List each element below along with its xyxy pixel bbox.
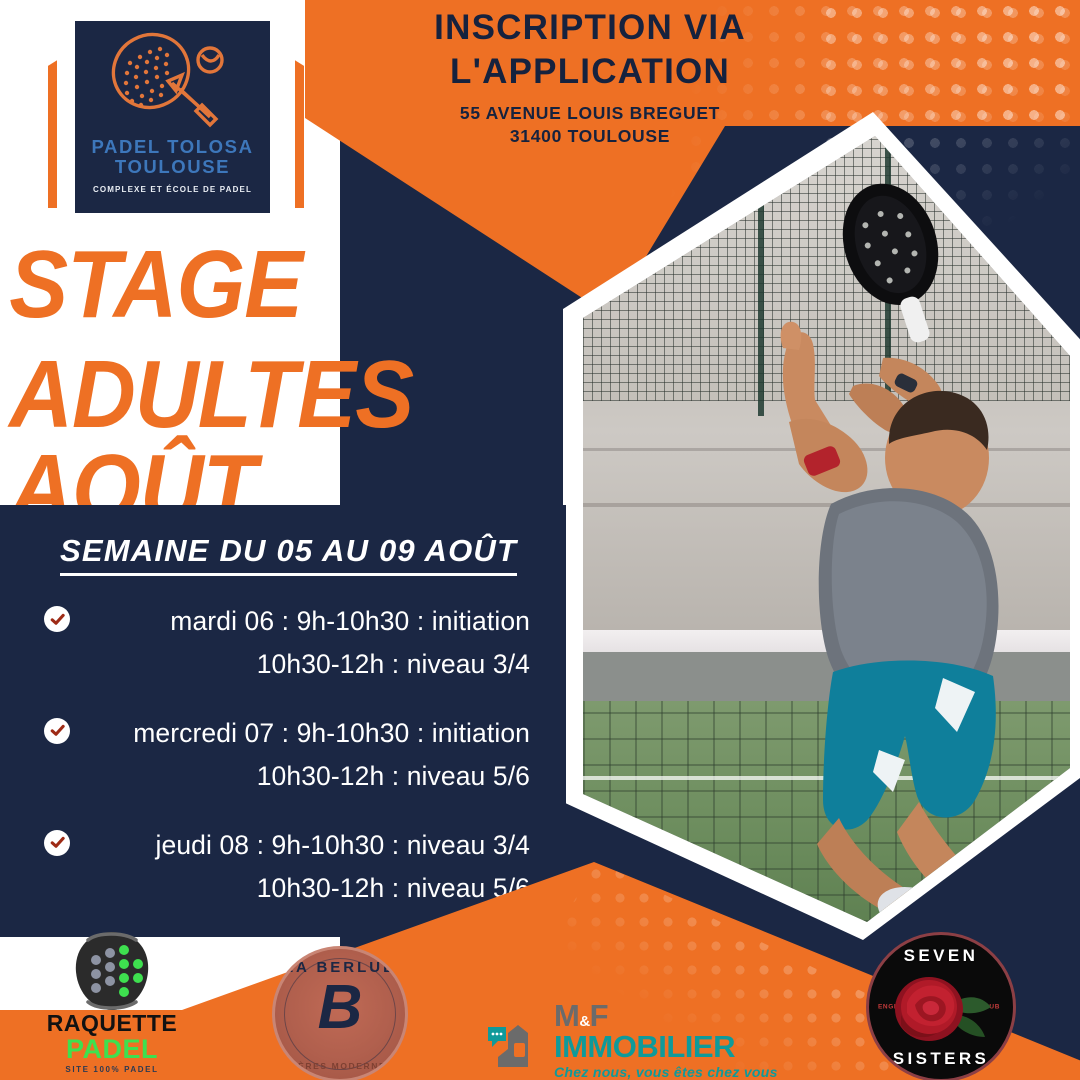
schedule-list: mardi 06 : 9h-10h30 : initiation 10h30-1… xyxy=(0,600,566,936)
header-line1: INSCRIPTION VIA xyxy=(355,6,825,50)
house-speech-bubble-icon xyxy=(484,1025,546,1069)
check-circle-icon xyxy=(44,718,70,744)
title-line1: STAGE xyxy=(0,238,552,332)
mf-tagline: Chez nous, vous êtes chez vous ! xyxy=(554,1065,784,1080)
raquette-line1: RAQUETTE xyxy=(32,1012,192,1035)
padel-tolosa-logo[interactable]: PADEL TOLOSA TOULOUSE COMPLEXE ET ÉCOLE … xyxy=(75,21,270,213)
padel-racket-dots-icon xyxy=(66,928,158,1014)
seven-bottom-text: SISTERS xyxy=(869,1049,1013,1069)
header-text-block: INSCRIPTION VIA L'APPLICATION 55 AVENUE … xyxy=(355,6,825,149)
check-circle-icon xyxy=(44,830,70,856)
schedule-item: jeudi 08 : 9h-10h30 : niveau 3/4 10h30-1… xyxy=(0,824,566,910)
raquette-line2: PADEL xyxy=(32,1035,192,1063)
sponsor-la-berlue[interactable]: LA BERLUE B BIÈRES MODERNES xyxy=(272,946,406,1080)
schedule-item-line1: jeudi 08 : 9h-10h30 : niveau 3/4 xyxy=(0,824,566,867)
padel-racket-and-ball-icon xyxy=(98,31,248,135)
schedule-item: mardi 06 : 9h-10h30 : initiation 10h30-1… xyxy=(0,600,566,686)
berlue-badge-icon: LA BERLUE B BIÈRES MODERNES xyxy=(272,946,408,1080)
sponsor-seven-sisters[interactable]: SEVEN ENGLISH PUB SISTERS xyxy=(866,932,1014,1080)
header-address-line1: 55 AVENUE LOUIS BREGUET xyxy=(355,102,825,125)
schedule-item-line2: 10h30-12h : niveau 3/4 xyxy=(0,643,566,686)
mf-name: M&F IMMOBILIER xyxy=(554,1000,784,1062)
logo-tagline: COMPLEXE ET ÉCOLE DE PADEL xyxy=(93,185,252,194)
sponsor-raquette-padel[interactable]: RAQUETTE PADEL SITE 100% PADEL xyxy=(32,928,192,1078)
poster-canvas: PADEL TOLOSA TOULOUSE COMPLEXE ET ÉCOLE … xyxy=(0,0,1080,1080)
schedule-item: mercredi 07 : 9h-10h30 : initiation 10h3… xyxy=(0,712,566,798)
check-circle-icon xyxy=(44,606,70,632)
header-address-line2: 31400 TOULOUSE xyxy=(355,125,825,148)
mf-name-f: F xyxy=(590,998,608,1033)
mf-text: M&F IMMOBILIER Chez nous, vous êtes chez… xyxy=(554,1000,784,1080)
schedule-item-line1: mardi 06 : 9h-10h30 : initiation xyxy=(0,600,566,643)
mf-name-m: M xyxy=(554,998,579,1033)
berlue-monogram: B xyxy=(275,977,405,1039)
mf-row: M&F IMMOBILIER Chez nous, vous êtes chez… xyxy=(484,1000,784,1080)
schedule-heading: SEMAINE DU 05 AU 09 AOÛT xyxy=(60,533,517,576)
header-line2: L'APPLICATION xyxy=(355,50,825,94)
mf-name-amp: & xyxy=(579,1013,589,1030)
raquette-tagline: SITE 100% PADEL xyxy=(32,1065,192,1074)
mf-name-rest: IMMOBILIER xyxy=(554,1029,735,1064)
rose-badge-icon: SEVEN ENGLISH PUB SISTERS xyxy=(866,932,1016,1080)
berlue-bottom-text: BIÈRES MODERNES xyxy=(275,1061,405,1071)
sponsor-mf-immobilier[interactable]: M&F IMMOBILIER Chez nous, vous êtes chez… xyxy=(484,1000,784,1070)
schedule-item-line1: mercredi 07 : 9h-10h30 : initiation xyxy=(0,712,566,755)
logo-line2: TOULOUSE xyxy=(115,157,230,178)
rose-illustration xyxy=(885,963,997,1051)
page-title: STAGE ADULTES AOÛT xyxy=(0,238,600,536)
schedule-item-line2: 10h30-12h : niveau 5/6 xyxy=(0,755,566,798)
logo-line1: PADEL TOLOSA xyxy=(91,137,253,157)
